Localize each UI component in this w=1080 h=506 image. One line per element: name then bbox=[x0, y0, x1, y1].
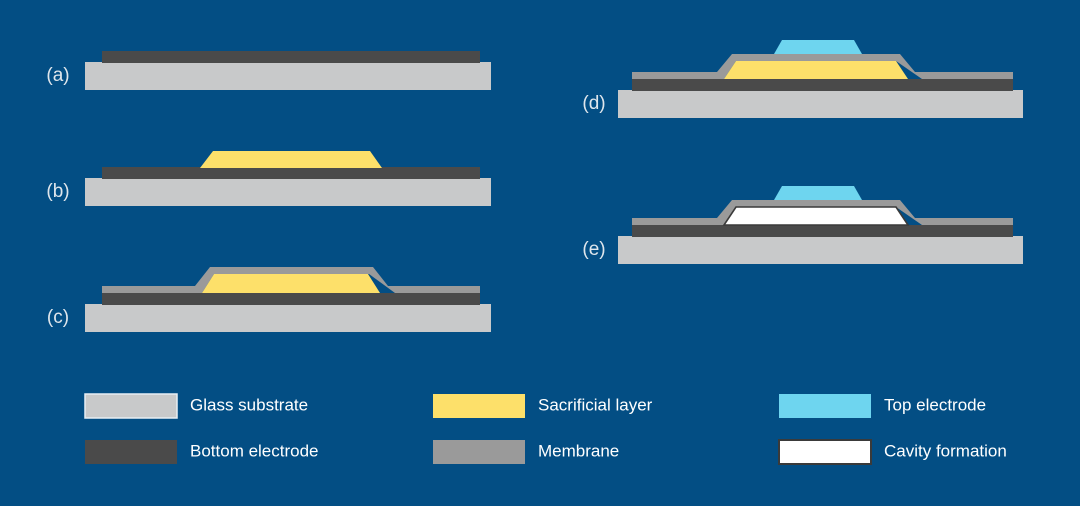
legend-item-cavity-formation: Cavity formation bbox=[779, 440, 1007, 464]
layer-top-electrode bbox=[774, 186, 862, 200]
panel-label: (d) bbox=[582, 93, 605, 114]
panel-label: (c) bbox=[47, 307, 69, 328]
legend-label: Membrane bbox=[538, 441, 619, 460]
legend-swatch bbox=[779, 440, 871, 464]
legend-swatch bbox=[779, 394, 871, 418]
legend-swatch bbox=[433, 394, 525, 418]
layer-glass-substrate bbox=[618, 236, 1023, 264]
layer-glass-substrate bbox=[85, 304, 491, 332]
layer-cavity-formation bbox=[724, 207, 908, 225]
legend-item-glass-substrate: Glass substrate bbox=[85, 394, 308, 418]
legend-item-sacrificial-layer: Sacrificial layer bbox=[433, 394, 653, 418]
layer-bottom-electrode bbox=[632, 79, 1013, 91]
layer-top-electrode bbox=[774, 40, 862, 54]
panel-a: (a) bbox=[46, 51, 491, 90]
layer-glass-substrate bbox=[618, 90, 1023, 118]
legend-swatch bbox=[433, 440, 525, 464]
panel-label: (b) bbox=[46, 181, 69, 202]
layer-bottom-electrode bbox=[102, 293, 480, 305]
panel-label: (a) bbox=[46, 65, 69, 86]
legend-label: Glass substrate bbox=[190, 395, 308, 414]
layer-glass-substrate bbox=[85, 178, 491, 206]
legend-label: Top electrode bbox=[884, 395, 986, 414]
process-flow-diagram: (a)(b)(c)(d)(e) Glass substrateBottom el… bbox=[0, 0, 1080, 506]
legend-swatch bbox=[85, 440, 177, 464]
layer-bottom-electrode bbox=[102, 51, 480, 63]
legend-label: Sacrificial layer bbox=[538, 395, 653, 414]
layer-sacrificial bbox=[202, 274, 380, 293]
layer-bottom-electrode bbox=[632, 225, 1013, 237]
legend-swatch bbox=[85, 394, 177, 418]
layer-sacrificial bbox=[724, 61, 908, 79]
panel-label: (e) bbox=[582, 239, 605, 260]
layer-sacrificial bbox=[200, 151, 382, 168]
layer-glass-substrate bbox=[85, 62, 491, 90]
legend-label: Cavity formation bbox=[884, 441, 1007, 460]
legend-item-bottom-electrode: Bottom electrode bbox=[85, 440, 319, 464]
legend-label: Bottom electrode bbox=[190, 441, 319, 460]
layer-bottom-electrode bbox=[102, 167, 480, 179]
